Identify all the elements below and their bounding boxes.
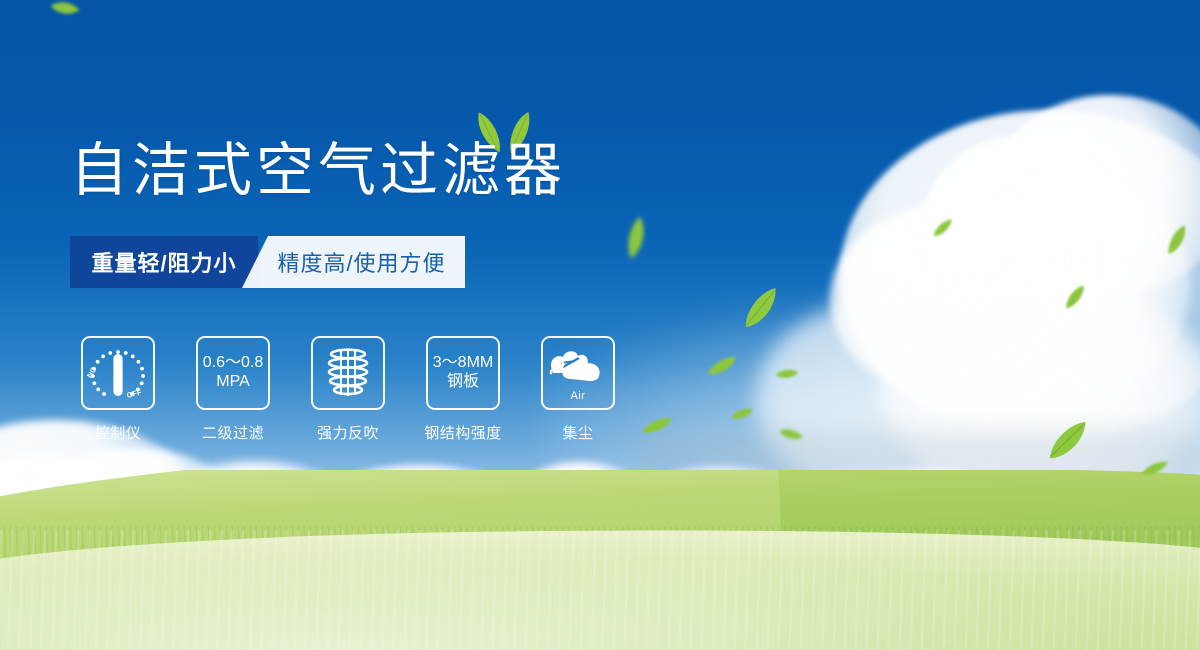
feature-item[interactable]: 0.6〜0.8 MPA 二级过滤	[193, 336, 273, 443]
svg-text:OFF: OFF	[126, 387, 143, 399]
steel-plate-icon-line2: 钢板	[447, 373, 479, 392]
page-title: 自洁式空气过滤器	[70, 142, 566, 200]
cloud-air-icon	[549, 347, 607, 389]
subtitle-pill-secondary: 精度高/使用方便	[242, 236, 465, 288]
gauge-icon: NO OFF	[87, 344, 149, 402]
feature-list: NO OFF 控制仪 0.6〜0.8 MPA 二级过滤	[78, 336, 618, 443]
pressure-icon-line2: MPA	[216, 373, 249, 392]
feature-item[interactable]: NO OFF 控制仪	[78, 336, 158, 443]
subtitle-primary-text: 重量轻/阻力小	[91, 246, 236, 278]
feature-icon-box: NO OFF	[81, 336, 155, 410]
feature-item[interactable]: 3〜8MM 钢板 钢结构强度	[423, 336, 503, 443]
feature-label: 集尘	[562, 422, 593, 443]
subtitle-bar: 重量轻/阻力小 精度高/使用方便	[70, 236, 465, 288]
feature-item[interactable]: Air 集尘	[538, 336, 618, 443]
feature-label: 二级过滤	[202, 422, 264, 443]
subtitle-secondary-text: 精度高/使用方便	[261, 246, 445, 278]
feature-item[interactable]: 强力反吹	[308, 336, 388, 443]
subtitle-pill-primary: 重量轻/阻力小	[70, 236, 258, 288]
feature-label: 控制仪	[95, 422, 142, 443]
svg-text:NO: NO	[87, 365, 98, 379]
feature-label: 钢结构强度	[424, 422, 502, 443]
feature-icon-box: 3〜8MM 钢板	[426, 336, 500, 410]
banner-content: 自洁式空气过滤器 重量轻/阻力小 精度高/使用方便	[0, 0, 1200, 650]
pressure-icon-line1: 0.6〜0.8	[203, 354, 264, 373]
feature-label: 强力反吹	[317, 422, 379, 443]
filter-stack-icon	[321, 345, 375, 401]
steel-plate-icon-line1: 3〜8MM	[433, 354, 493, 373]
feature-icon-box: Air	[541, 336, 615, 410]
cloud-air-icon-label: Air	[571, 390, 586, 402]
feature-icon-box	[311, 336, 385, 410]
product-banner: 自洁式空气过滤器 重量轻/阻力小 精度高/使用方便	[0, 0, 1200, 650]
feature-icon-box: 0.6〜0.8 MPA	[196, 336, 270, 410]
